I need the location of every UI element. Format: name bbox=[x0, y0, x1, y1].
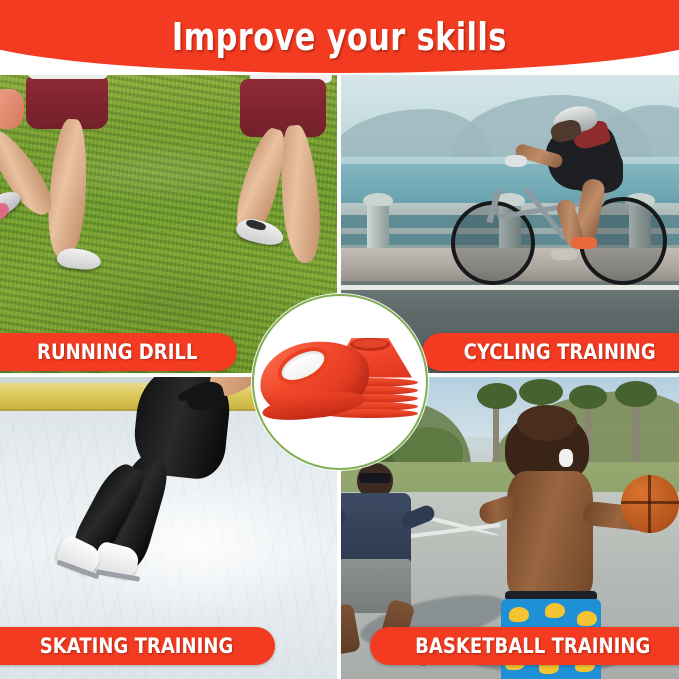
label-basketball-training[interactable]: BASKETBALL TRAINING bbox=[370, 627, 679, 665]
cyclist bbox=[451, 89, 679, 319]
label-running-text: RUNNING DRILL bbox=[37, 340, 197, 364]
runner-left bbox=[0, 75, 144, 307]
label-cycling-training[interactable]: CYCLING TRAINING bbox=[422, 333, 679, 371]
label-basketball-text: BASKETBALL TRAINING bbox=[415, 634, 650, 658]
label-skating-training[interactable]: SKATING TRAINING bbox=[0, 627, 275, 665]
label-running-drill[interactable]: RUNNING DRILL bbox=[0, 333, 237, 371]
product-badge-disc-cones[interactable] bbox=[252, 294, 428, 470]
tilted-cone-icon bbox=[260, 342, 370, 424]
label-skating-text: SKATING TRAINING bbox=[40, 634, 234, 658]
runner-right bbox=[228, 75, 337, 301]
figure-skater bbox=[48, 377, 278, 607]
label-cycling-text: CYCLING TRAINING bbox=[463, 340, 655, 364]
header-banner bbox=[0, 0, 679, 73]
product-feature-collage: Improve your skills RUNNING DRILL CYCLIN… bbox=[0, 0, 679, 679]
